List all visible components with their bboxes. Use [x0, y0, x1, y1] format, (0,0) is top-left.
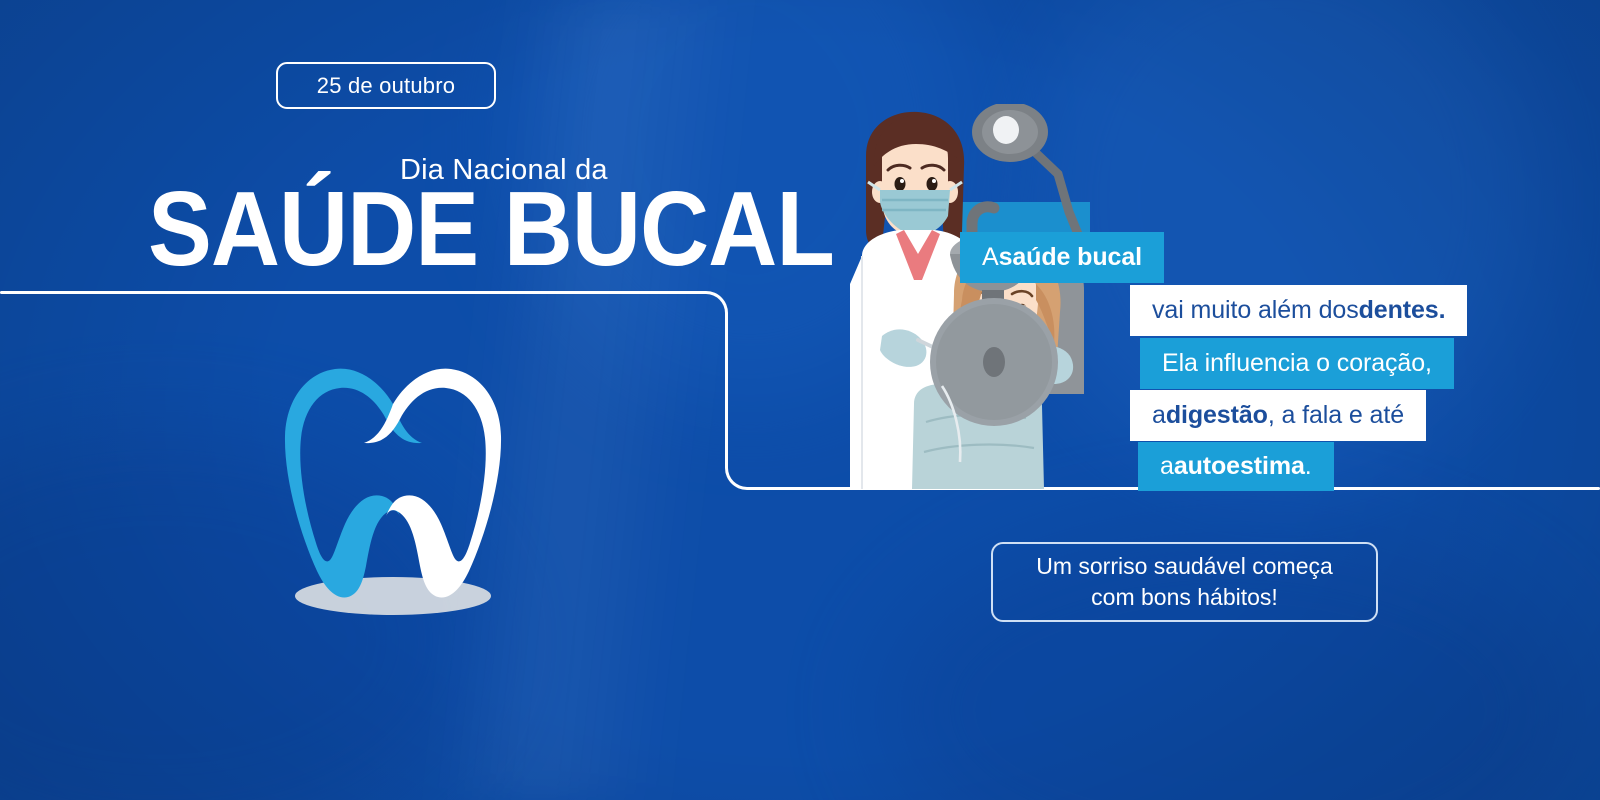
banner-canvas: 25 de outubro Dia Nacional da SAÚDE BUCA…: [0, 0, 1600, 800]
message-bar-2: vai muito além dos dentes.: [1130, 285, 1467, 336]
date-badge-label: 25 de outubro: [317, 73, 455, 99]
message-bar-1-bold: saúde bucal: [999, 243, 1142, 272]
page-title: SAÚDE BUCAL: [148, 176, 834, 281]
message-bar-5-suffix: .: [1305, 452, 1312, 481]
date-badge: 25 de outubro: [276, 62, 496, 109]
message-bar-3: Ela influencia o coração,: [1140, 338, 1454, 389]
frame-line-top-left: [0, 291, 700, 294]
message-bar-1-prefix: A: [982, 243, 999, 272]
callout-box: Um sorriso saudável começa com bons hábi…: [991, 542, 1378, 622]
footer-logo-strip: TELESSAÚDE Maranhão UFMA SEMPRE+ QUALIDA…: [0, 684, 1600, 768]
message-bar-4-bold: digestão: [1166, 401, 1268, 430]
message-bar-4-suffix: , a fala e até: [1268, 401, 1404, 430]
message-bar-4-prefix: a: [1152, 401, 1166, 430]
message-bar-1: A saúde bucal: [960, 232, 1164, 283]
message-bar-3-prefix: Ela influencia o coração,: [1162, 349, 1432, 378]
frame-line-vertical: [725, 320, 728, 465]
callout-line-1: Um sorriso saudável começa: [1036, 551, 1333, 582]
message-bar-5-prefix: a: [1160, 452, 1174, 481]
message-bar-5: a autoestima.: [1138, 442, 1334, 491]
message-bar-2-bold: dentes.: [1359, 296, 1446, 325]
callout-line-2: com bons hábitos!: [1091, 582, 1278, 613]
message-bar-5-bold: autoestima: [1174, 452, 1305, 481]
tooth-logo-icon: [262, 338, 524, 618]
message-bar-4: a digestão, a fala e até: [1130, 390, 1426, 441]
message-bar-2-prefix: vai muito além dos: [1152, 296, 1359, 325]
dentist-treating-patient-illustration: [822, 104, 1090, 489]
